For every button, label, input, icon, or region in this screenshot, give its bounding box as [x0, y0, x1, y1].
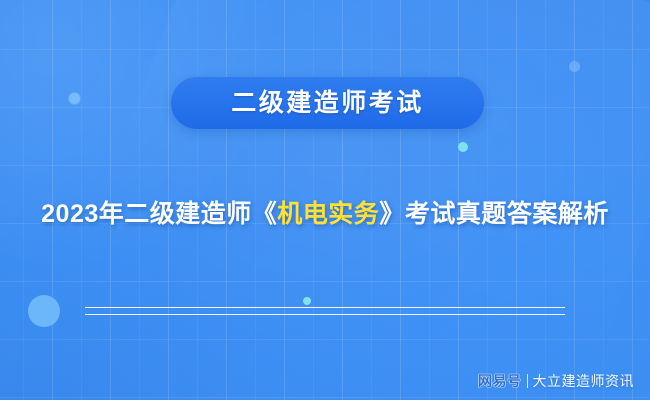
watermark-account-name: 大立建造师资讯	[533, 374, 635, 388]
page-title-bracket-open: 《	[252, 200, 278, 228]
cyan-dot-below-badge-icon	[458, 142, 468, 152]
watermark: 网易号 大立建造师资讯	[478, 374, 634, 388]
watermark-platform-logo: 网易号	[478, 374, 522, 388]
page-title-bracket-close: 》	[379, 200, 405, 228]
divider-line-top	[85, 307, 565, 308]
page-title-prefix: 2023年二级建造师	[41, 200, 252, 228]
exam-category-badge-label: 二级建造师考试	[231, 91, 424, 116]
exam-category-badge: 二级建造师考试	[171, 77, 484, 129]
cyan-dot-above-divider-icon	[303, 297, 311, 305]
page-title-subject: 机电实务	[277, 200, 379, 228]
large-pale-circle-lower-left-icon	[28, 295, 60, 327]
divider	[85, 307, 565, 317]
pale-dot-upper-left-icon	[69, 93, 80, 104]
divider-line-bottom	[85, 314, 565, 315]
promo-banner: 二级建造师考试 2023年二级建造师《机电实务》考试真题答案解析 网易号 大立建…	[0, 0, 650, 400]
page-title-suffix: 考试真题答案解析	[405, 200, 609, 228]
faint-dot-top-right-icon	[569, 61, 580, 72]
watermark-separator-icon	[527, 374, 528, 388]
page-title: 2023年二级建造师《机电实务》考试真题答案解析	[0, 202, 650, 227]
